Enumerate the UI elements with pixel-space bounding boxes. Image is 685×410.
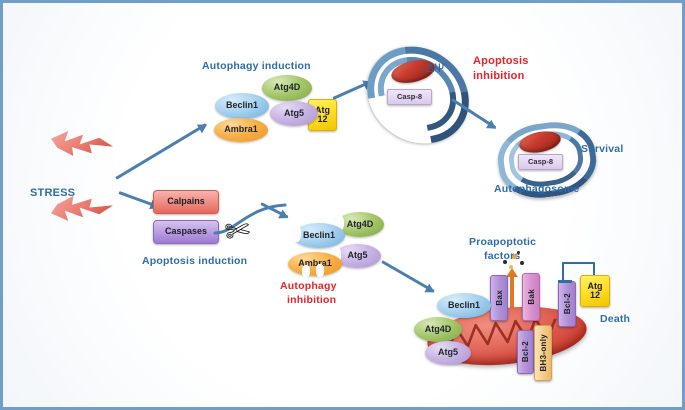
scissors-icon: ✄ bbox=[223, 215, 252, 248]
apoptosis-inhibition-line2: inhibition bbox=[473, 70, 524, 82]
autophagy-induction-label: Autophagy induction bbox=[202, 60, 311, 72]
atg12-line2: 12 bbox=[317, 115, 327, 124]
proapoptotic-line1: Proapoptotic bbox=[469, 236, 536, 248]
protein-bcl2-top: Bcl-2 bbox=[558, 281, 576, 327]
ambra1-cleavage-notch-b bbox=[316, 264, 324, 277]
protein-bax: Bax bbox=[490, 275, 508, 321]
protein-beclin1-mito: Beclin1 bbox=[437, 293, 491, 318]
protein-bh3-only: BH3-only bbox=[534, 325, 552, 381]
proapoptotic-particle-3 bbox=[520, 261, 524, 265]
protein-atg4d-mito: Atg4D bbox=[414, 317, 462, 342]
protein-atg5-mito: Atg5 bbox=[425, 341, 471, 365]
phagophore-group: Casp-8 bbox=[361, 47, 473, 139]
autophagy-inhibition-line1: Autophagy bbox=[280, 280, 337, 292]
cytochrome-efflux-arrowhead bbox=[506, 268, 518, 277]
protein-atg4d-top: Atg4D bbox=[262, 75, 312, 101]
box-calpains: Calpains bbox=[153, 190, 219, 214]
proapoptotic-particle-5 bbox=[517, 251, 520, 254]
apoptosis-inhibition-line1: Apoptosis bbox=[473, 55, 529, 67]
protein-beclin1-top: Beclin1 bbox=[215, 93, 269, 119]
atg12-inhibitor-line2: 12 bbox=[590, 291, 600, 300]
autophagosome-label: Autophagosome bbox=[494, 183, 579, 195]
delta-psi-label: ↓ΔΨ bbox=[420, 61, 445, 75]
proapoptotic-particle-4 bbox=[509, 265, 513, 269]
casp8-label-phagophore: Casp-8 bbox=[387, 89, 432, 105]
arrow-stress-to-autophagy bbox=[115, 123, 207, 180]
apoptosis-induction-label: Apoptosis induction bbox=[142, 255, 247, 267]
stress-label: STRESS bbox=[30, 187, 75, 199]
protein-atg12-inhibitor: Atg 12 bbox=[580, 275, 610, 307]
survival-label: Survival bbox=[581, 143, 623, 155]
protein-bak: Bak bbox=[522, 273, 540, 321]
casp8-label-autophagosome: Casp-8 bbox=[518, 154, 563, 170]
protein-ambra1-cleaved: Ambra1 bbox=[288, 252, 342, 276]
protein-atg5-top: Atg5 bbox=[270, 101, 318, 126]
lightning-icon-1 bbox=[51, 131, 113, 157]
ambra1-cleavage-notch-a bbox=[302, 265, 310, 277]
arrow-complex-to-mitochondrion bbox=[381, 260, 434, 293]
figure-canvas: STRESS Autophagy induction Atg4D Beclin1… bbox=[0, 0, 685, 410]
death-label: Death bbox=[600, 313, 630, 325]
box-caspases: Caspases bbox=[153, 220, 219, 244]
proapoptotic-particle-2 bbox=[512, 254, 517, 259]
autophagy-inhibition-line2: inhibition bbox=[287, 294, 336, 306]
beclin1-cleavage-notch bbox=[291, 225, 301, 242]
protein-bcl2-bottom: Bcl-2 bbox=[517, 330, 534, 374]
proapoptotic-particle-1 bbox=[503, 260, 507, 264]
protein-ambra1-top: Ambra1 bbox=[214, 118, 268, 142]
